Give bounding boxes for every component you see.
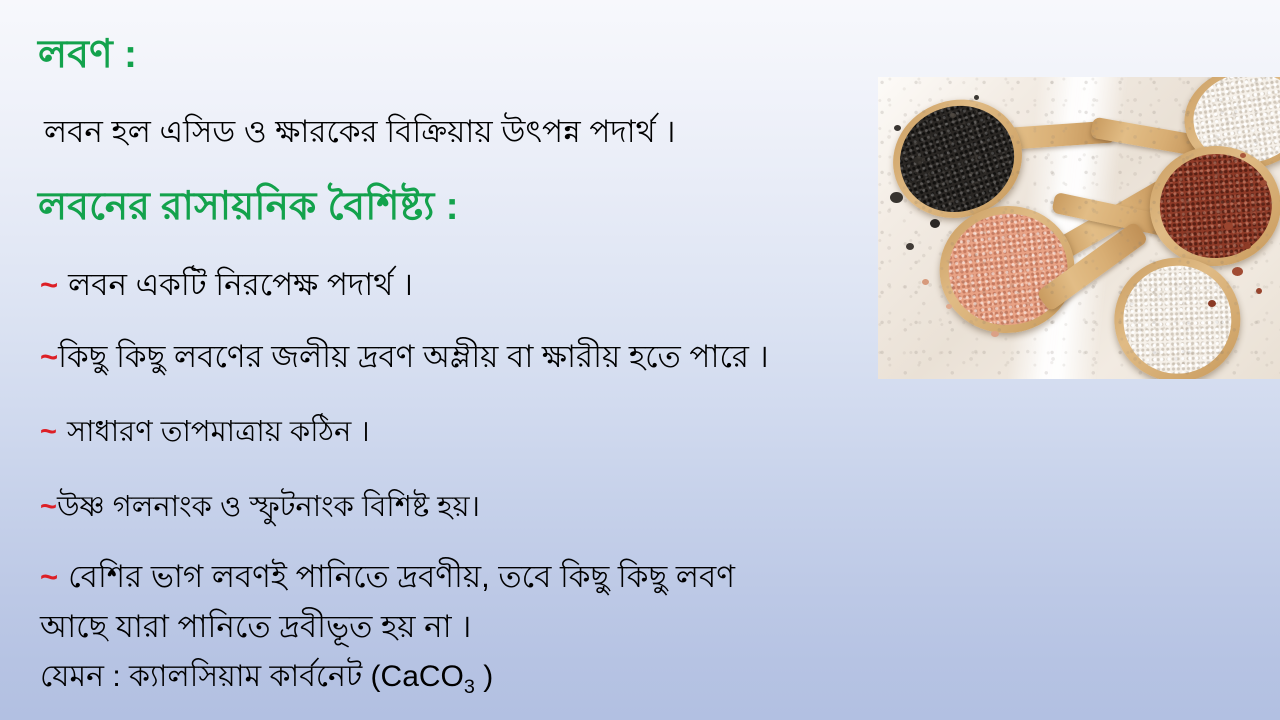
example-formula-subscript: 3 — [464, 676, 475, 698]
heading-chemical-properties: লবনের রাসায়নিক বৈশিষ্ট্য : — [38, 176, 459, 241]
tilde-bullet-icon: ~ — [40, 339, 58, 375]
spoon-red-salt — [1067, 135, 1280, 284]
bullet-item-3: ~সাধারণ তাপমাত্রায় কঠিন । — [40, 409, 370, 458]
salt-varieties-photo — [878, 77, 1280, 379]
bullet-item-5-example: যেমন : ক্যালসিয়াম কার্বনেট (CaCO3 ) — [40, 652, 493, 703]
spoon-white-salt-bottom — [1052, 230, 1280, 379]
example-formula-suffix: ) — [475, 660, 493, 693]
bullet-item-5-continuation: আছে যারা পানিতে দ্রবীভূত হয় না । — [40, 603, 471, 655]
bullet-item-2: ~কিছু কিছু লবণের জলীয় দ্রবণ অম্লীয় বা … — [40, 333, 769, 385]
spoon-white-salt-top — [1096, 77, 1280, 200]
bullet-item-5: ~বেশির ভাগ লবণই পানিতে দ্রবণীয়, তবে কিছ… — [40, 553, 735, 605]
bullet-item-3-label: সাধারণ তাপমাত্রায় কঠিন । — [67, 416, 370, 448]
spoon-black-salt — [878, 77, 1127, 257]
tilde-bullet-icon: ~ — [40, 416, 57, 449]
bullet-item-5-label: বেশির ভাগ লবণই পানিতে দ্রবণীয়, তবে কিছু… — [68, 559, 735, 594]
bullet-item-1: ~লবন একটি নিরপেক্ষ পদার্থ । — [40, 261, 413, 313]
bullet-item-4: ~উষ্ণ গলনাংক ও স্ফুটনাংক বিশিষ্ট হয়। — [40, 484, 480, 533]
spoon-pink-salt — [927, 174, 1183, 349]
tilde-bullet-icon: ~ — [40, 267, 58, 303]
slide-canvas: লবণ : লবন হল এসিড ও ক্ষারকের বিক্রিয়ায়… — [0, 0, 1280, 720]
heading-salt: লবণ : — [38, 24, 137, 89]
example-formula-prefix: যেমন : ক্যালসিয়াম কার্বনেট (CaCO — [40, 660, 464, 693]
bullet-item-4-label: উষ্ণ গলনাংক ও স্ফুটনাংক বিশিষ্ট হয়। — [57, 491, 480, 523]
salt-definition-text: লবন হল এসিড ও ক্ষারকের বিক্রিয়ায় উৎপন্… — [44, 108, 675, 160]
tilde-bullet-icon: ~ — [40, 559, 58, 595]
tilde-bullet-icon: ~ — [40, 491, 57, 524]
bullet-item-1-label: লবন একটি নিরপেক্ষ পদার্থ । — [68, 267, 413, 302]
bullet-item-2-label: কিছু কিছু লবণের জলীয় দ্রবণ অম্লীয় বা ক… — [58, 339, 769, 374]
